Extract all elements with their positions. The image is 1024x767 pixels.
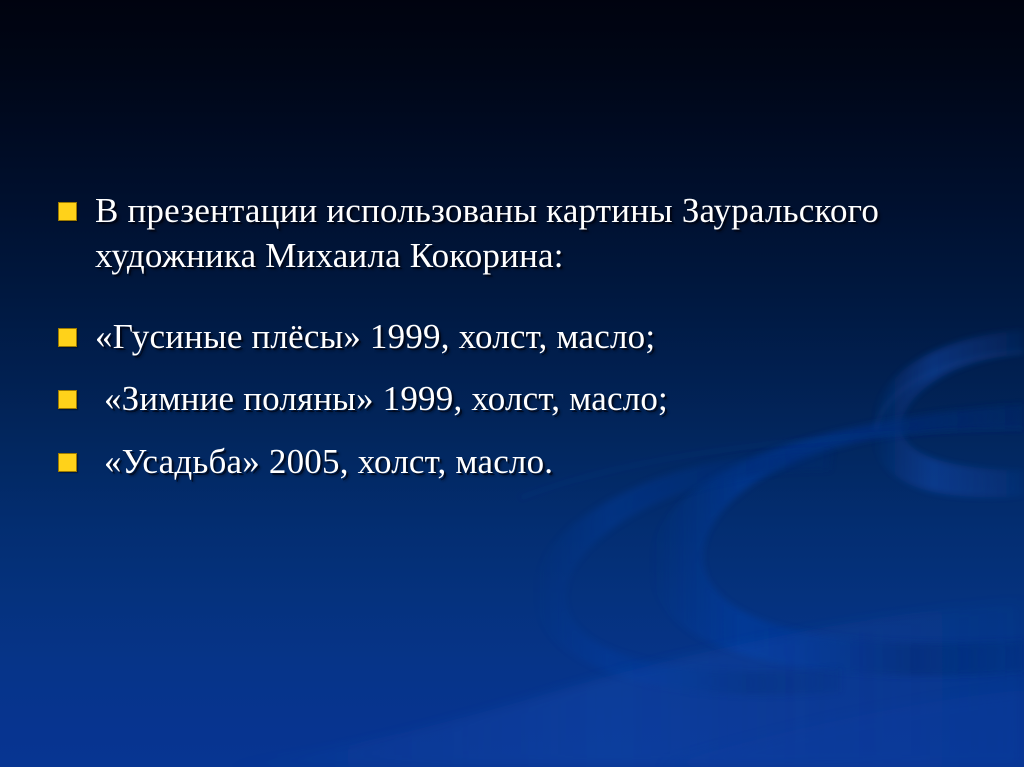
list-item: «Гусиные плёсы» 1999, холст, масло; [58, 315, 1004, 360]
list-item: «Зимние поляны» 1999, холст, масло; [58, 377, 1004, 422]
list-item-label: «Гусиные плёсы» 1999, холст, масло; [95, 315, 1004, 360]
yellow-square-bullet-icon [58, 390, 77, 409]
list-item: В презентации использованы картины Заура… [58, 189, 1004, 279]
yellow-square-bullet-icon [58, 453, 77, 472]
bullet-list: В презентации использованы картины Заура… [0, 0, 1024, 767]
list-item-label: В презентации использованы картины Заура… [95, 189, 895, 279]
list-item-label: «Усадьба» 2005, холст, масло. [95, 440, 1004, 485]
yellow-square-bullet-icon [58, 202, 77, 221]
list-item-label: «Зимние поляны» 1999, холст, масло; [95, 377, 1004, 422]
presentation-slide: В презентации использованы картины Заура… [0, 0, 1024, 767]
yellow-square-bullet-icon [58, 328, 77, 347]
list-item: «Усадьба» 2005, холст, масло. [58, 440, 1004, 485]
